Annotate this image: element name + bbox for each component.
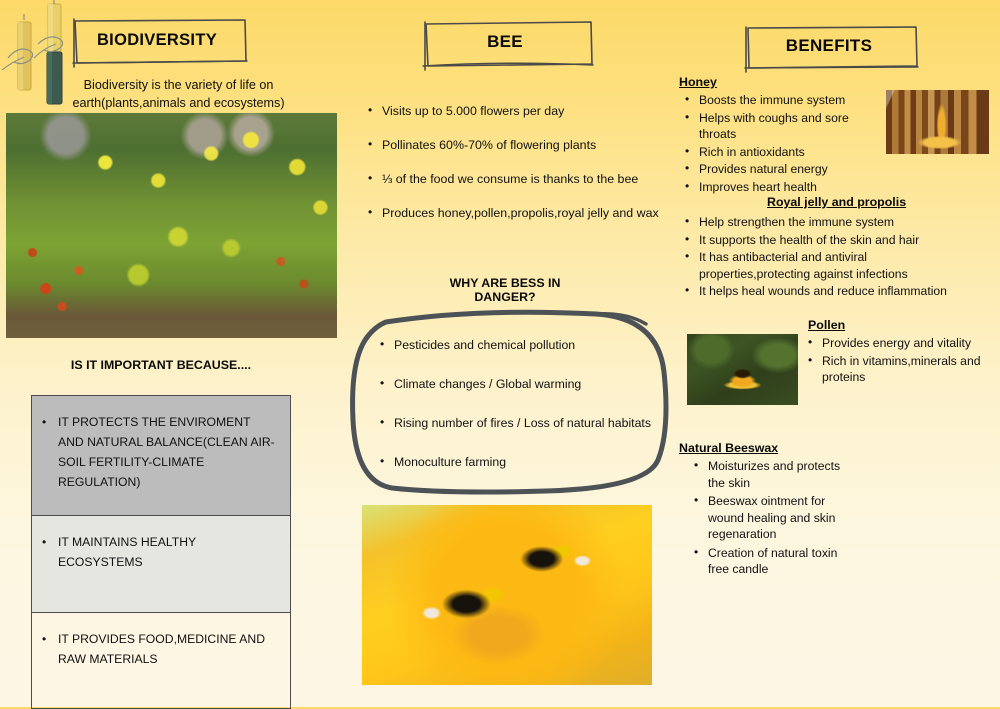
- importance-table: • IT PROTECTS THE ENVIROMENT AND NATURAL…: [31, 395, 291, 709]
- list-item: Helps with coughs and sore throats: [683, 110, 888, 143]
- table-row: • IT MAINTAINS HEALTHY ECOSYSTEMS: [32, 516, 290, 613]
- list-item: Beeswax ointment for wound healing and s…: [692, 493, 852, 543]
- bullet-icon: •: [42, 629, 58, 692]
- list-item: ⅓ of the food we consume is thanks to th…: [366, 171, 662, 188]
- list-item: It has antibacterial and antiviral prope…: [683, 249, 963, 282]
- list-item: Creation of natural toxin free candle: [692, 545, 852, 578]
- list-item: Pesticides and chemical pollution: [378, 337, 668, 354]
- list-item: Provides natural energy: [683, 161, 888, 178]
- list-item: Rising number of fires / Loss of natural…: [378, 415, 668, 432]
- list-item: Provides energy and vitality: [806, 335, 986, 352]
- infographic-poster: BIODIVERSITY BEE BENEFITS Biodiversity i…: [0, 0, 1000, 707]
- pollen-bee-photo: [687, 334, 798, 405]
- benefits-heading-royal-jelly: Royal jelly and propolis: [767, 195, 906, 209]
- benefits-list-pollen: Provides energy and vitality Rich in vit…: [806, 335, 986, 387]
- header-box-biodiversity: BIODIVERSITY: [71, 18, 243, 62]
- list-item: Visits up to 5.000 flowers per day: [366, 103, 662, 120]
- benefits-heading-pollen: Pollen: [808, 318, 845, 332]
- bullet-icon: •: [42, 532, 58, 596]
- table-row: • IT PROVIDES FOOD,MEDICINE AND RAW MATE…: [32, 613, 290, 708]
- header-title-bee: BEE: [421, 20, 589, 64]
- garden-photo: [6, 113, 337, 338]
- biodiversity-intro-text: Biodiversity is the variety of life on e…: [36, 76, 321, 112]
- list-item: Rich in vitamins,minerals and proteins: [806, 353, 986, 386]
- bee-facts-list: Visits up to 5.000 flowers per day Polli…: [366, 103, 662, 239]
- bumblebees-photo: [362, 505, 652, 685]
- header-title-benefits: BENEFITS: [743, 25, 915, 67]
- list-item: Climate changes / Global warming: [378, 376, 668, 393]
- importance-heading: IS IT IMPORTANT BECAUSE....: [31, 358, 291, 372]
- bullet-icon: •: [42, 412, 58, 499]
- header-box-bee: BEE: [421, 20, 589, 64]
- list-item: Rich in antioxidants: [683, 144, 888, 161]
- table-row: • IT PROTECTS THE ENVIROMENT AND NATURAL…: [32, 396, 290, 516]
- list-item: Pollinates 60%-70% of flowering plants: [366, 137, 662, 154]
- list-item: Monoculture farming: [378, 454, 668, 471]
- danger-list: Pesticides and chemical pollution Climat…: [378, 337, 668, 493]
- list-item: It helps heal wounds and reduce inflamma…: [683, 283, 963, 300]
- list-item: Produces honey,pollen,propolis,royal jel…: [366, 205, 662, 222]
- list-item: Help strengthen the immune system: [683, 214, 963, 231]
- benefits-list-royal-jelly: Help strengthen the immune system It sup…: [683, 214, 963, 301]
- benefits-list-honey: Boosts the immune system Helps with coug…: [683, 92, 888, 196]
- table-cell-text: IT PROVIDES FOOD,MEDICINE AND RAW MATERI…: [58, 629, 276, 692]
- table-cell-text: IT MAINTAINS HEALTHY ECOSYSTEMS: [58, 532, 276, 596]
- header-title-biodiversity: BIODIVERSITY: [71, 18, 243, 62]
- list-item: Improves heart health: [683, 179, 888, 196]
- table-cell-text: IT PROTECTS THE ENVIROMENT AND NATURAL B…: [58, 412, 276, 499]
- list-item: It supports the health of the skin and h…: [683, 232, 963, 249]
- header-box-benefits: BENEFITS: [743, 25, 915, 67]
- list-item: Boosts the immune system: [683, 92, 888, 109]
- benefits-list-beeswax: Moisturizes and protects the skin Beeswa…: [692, 458, 852, 580]
- benefits-heading-beeswax: Natural Beeswax: [679, 441, 778, 455]
- honey-photo: [886, 90, 989, 154]
- benefits-heading-honey: Honey: [679, 75, 717, 89]
- list-item: Moisturizes and protects the skin: [692, 458, 852, 491]
